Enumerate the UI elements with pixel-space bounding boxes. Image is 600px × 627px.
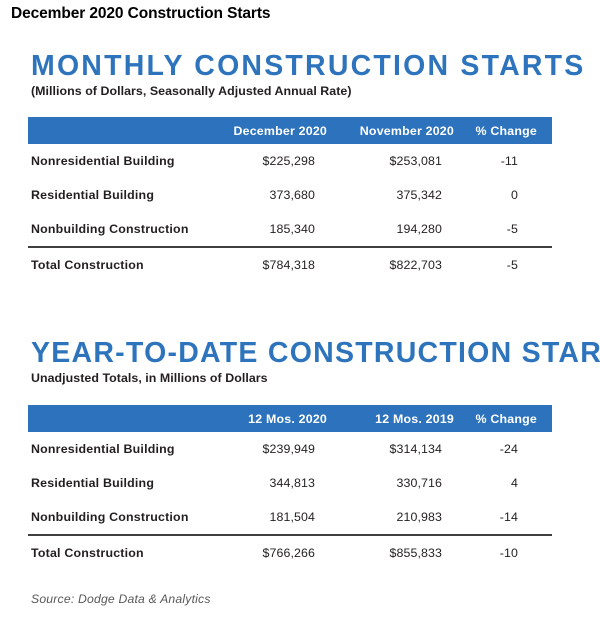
column-header-percent-change: % Change: [464, 117, 552, 144]
source-note: Source: Dodge Data & Analytics: [31, 592, 211, 606]
row-percent-change: 0: [464, 178, 552, 212]
column-header-period-1: 12 Mos. 2020: [210, 405, 337, 432]
total-row-label: Total Construction: [28, 535, 210, 570]
page-title: December 2020 Construction Starts: [11, 5, 270, 23]
row-value-period-2: $314,134: [337, 432, 464, 466]
table-row: Residential Building 373,680 375,342 0: [28, 178, 552, 212]
table-row: Residential Building 344,813 330,716 4: [28, 466, 552, 500]
row-label: Residential Building: [28, 466, 210, 500]
total-value-period-2: $855,833: [337, 535, 464, 570]
table-total-row: Total Construction $766,266 $855,833 -10: [28, 535, 552, 570]
row-value-period-1: 344,813: [210, 466, 337, 500]
monthly-construction-starts-table: December 2020 November 2020 % Change Non…: [28, 117, 552, 282]
section-subheading-year-to-date: Unadjusted Totals, in Millions of Dollar…: [0, 369, 600, 385]
table-header-monthly: December 2020 November 2020 % Change: [28, 117, 552, 144]
row-value-period-2: $253,081: [337, 144, 464, 178]
column-header-category: [28, 117, 210, 144]
row-value-period-2: 194,280: [337, 212, 464, 247]
table-body-year-to-date: Nonresidential Building $239,949 $314,13…: [28, 432, 552, 570]
row-label: Nonbuilding Construction: [28, 500, 210, 535]
row-value-period-2: 375,342: [337, 178, 464, 212]
table-header-row: December 2020 November 2020 % Change: [28, 117, 552, 144]
row-percent-change: 4: [464, 466, 552, 500]
row-percent-change: -24: [464, 432, 552, 466]
total-percent-change: -5: [464, 247, 552, 282]
row-value-period-1: 185,340: [210, 212, 337, 247]
row-value-period-1: 181,504: [210, 500, 337, 535]
total-value-period-1: $766,266: [210, 535, 337, 570]
section-monthly-construction-starts: MONTHLY CONSTRUCTION STARTS (Millions of…: [0, 50, 600, 98]
row-percent-change: -11: [464, 144, 552, 178]
row-label: Nonbuilding Construction: [28, 212, 210, 247]
section-heading-year-to-date: YEAR-TO-DATE CONSTRUCTION STARTS: [0, 337, 600, 369]
table-row: Nonresidential Building $239,949 $314,13…: [28, 432, 552, 466]
row-value-period-1: $225,298: [210, 144, 337, 178]
total-value-period-2: $822,703: [337, 247, 464, 282]
column-header-period-1: December 2020: [210, 117, 337, 144]
total-value-period-1: $784,318: [210, 247, 337, 282]
row-percent-change: -5: [464, 212, 552, 247]
total-percent-change: -10: [464, 535, 552, 570]
table-row: Nonresidential Building $225,298 $253,08…: [28, 144, 552, 178]
row-label: Nonresidential Building: [28, 432, 210, 466]
section-heading-monthly: MONTHLY CONSTRUCTION STARTS: [0, 50, 600, 82]
row-percent-change: -14: [464, 500, 552, 535]
row-value-period-2: 210,983: [337, 500, 464, 535]
row-value-period-1: 373,680: [210, 178, 337, 212]
table-wrapper-year-to-date: 12 Mos. 2020 12 Mos. 2019 % Change Nonre…: [0, 405, 552, 570]
row-value-period-1: $239,949: [210, 432, 337, 466]
row-label: Nonresidential Building: [28, 144, 210, 178]
table-header-year-to-date: 12 Mos. 2020 12 Mos. 2019 % Change: [28, 405, 552, 432]
table-wrapper-monthly: December 2020 November 2020 % Change Non…: [0, 117, 552, 282]
table-total-row: Total Construction $784,318 $822,703 -5: [28, 247, 552, 282]
total-row-label: Total Construction: [28, 247, 210, 282]
table-row: Nonbuilding Construction 185,340 194,280…: [28, 212, 552, 247]
row-label: Residential Building: [28, 178, 210, 212]
column-header-period-2: November 2020: [337, 117, 464, 144]
year-to-date-construction-starts-table: 12 Mos. 2020 12 Mos. 2019 % Change Nonre…: [28, 405, 552, 570]
row-value-period-2: 330,716: [337, 466, 464, 500]
column-header-category: [28, 405, 210, 432]
table-header-row: 12 Mos. 2020 12 Mos. 2019 % Change: [28, 405, 552, 432]
column-header-period-2: 12 Mos. 2019: [337, 405, 464, 432]
column-header-percent-change: % Change: [464, 405, 552, 432]
section-subheading-monthly: (Millions of Dollars, Seasonally Adjuste…: [0, 82, 600, 98]
table-row: Nonbuilding Construction 181,504 210,983…: [28, 500, 552, 535]
table-body-monthly: Nonresidential Building $225,298 $253,08…: [28, 144, 552, 282]
section-year-to-date-construction-starts: YEAR-TO-DATE CONSTRUCTION STARTS Unadjus…: [0, 337, 600, 385]
